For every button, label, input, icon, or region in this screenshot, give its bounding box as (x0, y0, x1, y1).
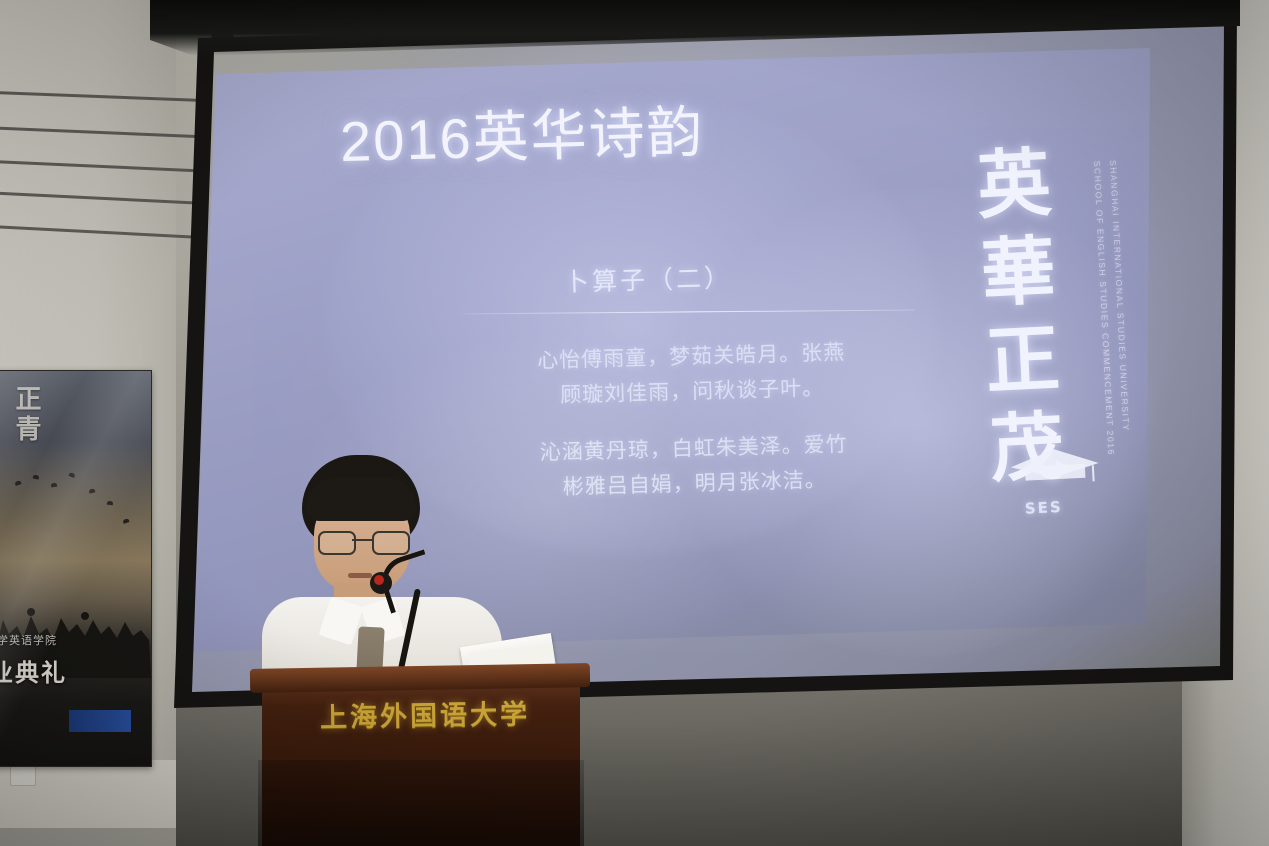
logo-glyph-ying: 英 (975, 141, 1053, 229)
microphone-indicator-light (374, 575, 384, 585)
commencement-poster: 正青 大学英语学院 毕业典礼 (0, 370, 152, 767)
logo-ses-label: SES (1023, 465, 1065, 551)
ses-commencement-logo: 英 華 正 茂 SES SCHOOL OF ENGLISH STUDIES CO… (947, 138, 1147, 656)
slide-divider-rule (463, 309, 915, 314)
logo-glyph-hua: 華 (979, 229, 1057, 317)
logo-glyph-mao: 茂 SES (988, 405, 1066, 493)
glasses-lens-right (372, 531, 410, 555)
slide-subtitle: 卜算子（二） (564, 258, 733, 299)
glasses-bridge (352, 539, 372, 541)
speaker-hair-front (306, 477, 416, 521)
speaker-mouth (348, 573, 372, 578)
lectern-university-name: 上海外国语大学 (290, 692, 561, 736)
glasses-lens-left (318, 531, 356, 555)
photo-scene: 2016英华诗韵 卜算子（二） 心怡傅雨童，梦茹关皓月。张燕 顾璇刘佳雨，问秋谈… (0, 0, 1269, 846)
logo-character-stack: 英 華 正 茂 SES (947, 140, 1102, 656)
poster-plastic-sheen (0, 371, 151, 766)
speaker-glasses (318, 531, 410, 551)
slide-title: 2016英华诗韵 (339, 87, 706, 178)
poem-stanza-1: 心怡傅雨童，梦茹关皓月。张燕 顾璇刘佳雨，问秋谈子叶。 (456, 333, 928, 416)
logo-glyph-zheng: 正 (984, 317, 1062, 405)
poem-stanza-2: 沁涵黄丹琼，白虹朱美泽。爱竹 彬雅吕自娟，明月张冰洁。 (458, 425, 930, 508)
lectern-shadow (258, 760, 584, 846)
floor-line (0, 828, 176, 846)
